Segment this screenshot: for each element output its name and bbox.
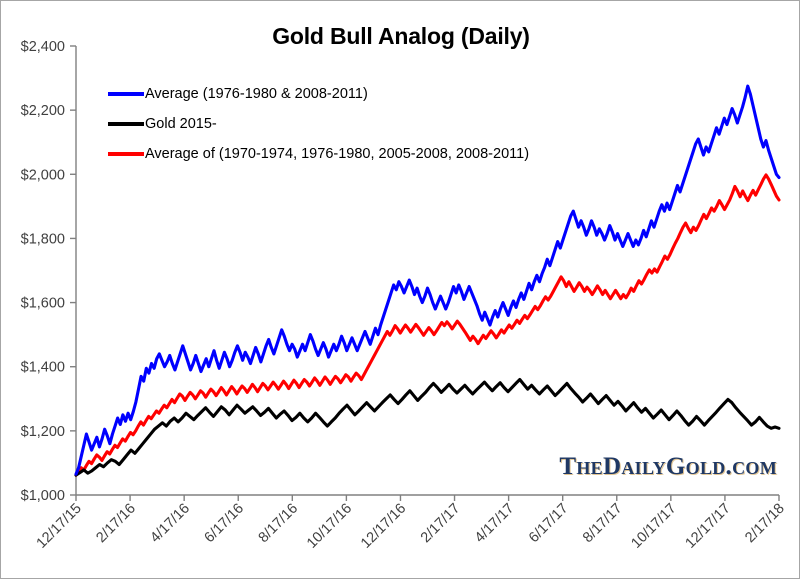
x-axis-tick-label: 8/17/17 [580, 501, 626, 547]
y-axis-tick-label: $2,400 [21, 39, 65, 55]
x-axis-tick-label: 12/17/15 [34, 501, 85, 552]
y-axis-tick-label: $2,200 [21, 103, 65, 119]
blue-line-swatch [108, 92, 144, 96]
y-axis-tick-label: $1,600 [21, 296, 65, 312]
legend-item-gold-2015: Gold 2015- [108, 109, 628, 139]
y-axis-tick-label: $1,000 [21, 488, 65, 504]
x-axis-tick-label: 4/17/16 [147, 501, 193, 547]
legend-label-blue: Average (1976-1980 & 2008-2011) [145, 87, 368, 102]
chart-container: Gold Bull Analog (Daily) $2,400$2,200$2,… [0, 0, 800, 579]
x-axis-tick-label: 12/17/16 [358, 501, 409, 552]
y-axis-tick-label: $1,200 [21, 424, 65, 440]
watermark-thedailygold: TheDailyGold.com [559, 453, 777, 481]
y-axis-tick-label: $1,400 [21, 360, 65, 376]
x-axis-tick-label: 10/17/16 [304, 501, 355, 552]
x-axis-tick-label: 6/17/17 [526, 501, 572, 547]
legend-label-black: Gold 2015- [145, 117, 217, 132]
x-axis-tick-label: 8/17/16 [256, 501, 302, 547]
black-line-swatch [108, 122, 144, 126]
legend-item-average-blue: Average (1976-1980 & 2008-2011) [108, 79, 628, 109]
x-axis-tick-label: 12/17/17 [683, 501, 734, 552]
x-axis-tick-label: 10/17/17 [628, 501, 679, 552]
x-axis-tick-label: 6/17/16 [202, 501, 248, 547]
x-axis-tick-label: 4/17/17 [472, 501, 518, 547]
legend-label-red: Average of (1970-1974, 1976-1980, 2005-2… [145, 147, 529, 162]
y-axis-tick-label: $2,000 [21, 167, 65, 183]
legend-item-average-red: Average of (1970-1974, 1976-1980, 2005-2… [108, 139, 628, 169]
x-axis-tick-label: 2/17/17 [418, 501, 464, 547]
chart-legend: Average (1976-1980 & 2008-2011) Gold 201… [108, 79, 628, 169]
series-line-red [76, 175, 779, 475]
y-axis-tick-label: $1,800 [21, 231, 65, 247]
x-axis-tick-label: 2/17/18 [742, 501, 788, 547]
red-line-swatch [108, 152, 144, 156]
x-axis-tick-label: 2/17/16 [93, 501, 139, 547]
